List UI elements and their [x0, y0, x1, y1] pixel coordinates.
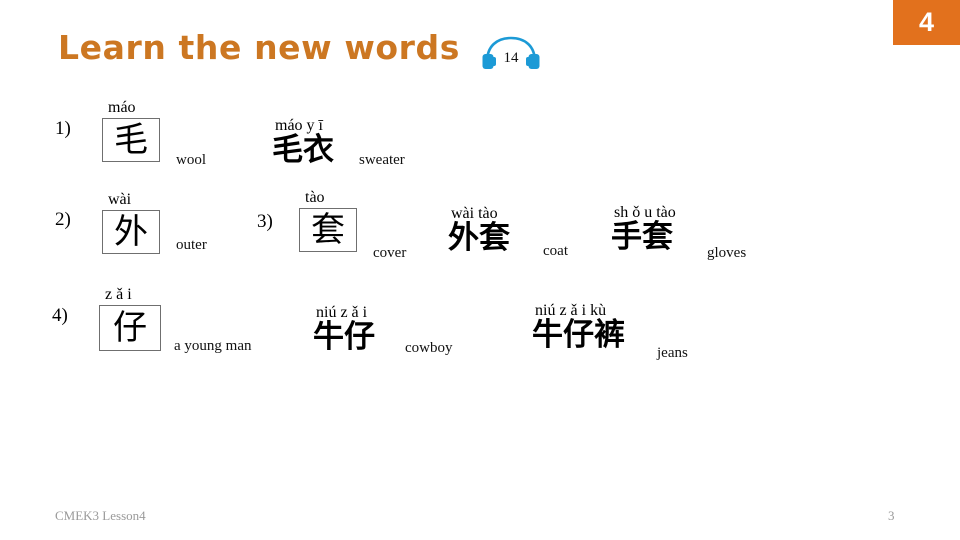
lesson-number-badge-label: 4: [919, 9, 934, 36]
gloss-cover: cover: [373, 245, 406, 262]
gloss-outer: outer: [176, 237, 207, 254]
audio-track-number: 14: [495, 50, 527, 67]
compound-glyphs: 牛仔: [313, 322, 375, 353]
char-box[interactable]: 毛: [102, 118, 160, 162]
char-box[interactable]: 外: [102, 210, 160, 254]
compound-glyphs: 手套: [611, 222, 676, 253]
char-pinyin: tào: [305, 190, 357, 206]
gloss-wool: wool: [176, 152, 206, 169]
char-pinyin: wài: [108, 192, 160, 208]
char-pinyin: máo: [108, 100, 160, 116]
lesson-number-badge: 4: [893, 0, 960, 45]
row-index-4: 4): [52, 305, 68, 327]
gloss-young-man: a young man: [174, 338, 251, 355]
char-entry-zai[interactable]: z ǎ i 仔: [99, 287, 161, 351]
gloss-sweater: sweater: [359, 152, 405, 169]
row-index-2: 2): [55, 209, 71, 231]
footer-page-number: 3: [888, 508, 895, 524]
char-glyph: 套: [311, 213, 345, 247]
page-title: Learn the new words: [58, 28, 460, 67]
gloss-coat: coat: [543, 243, 568, 260]
compound-shoutao[interactable]: sh ǒ u tào 手套: [611, 205, 676, 253]
slide-canvas: 4 Learn the new words 14 1) máo 毛 wool m…: [0, 0, 960, 540]
compound-niuzai[interactable]: niú z ǎ i 牛仔: [313, 305, 375, 353]
char-glyph: 外: [114, 215, 148, 249]
footer-lesson-label: CMEK3 Lesson4: [55, 508, 146, 524]
compound-waitao[interactable]: wài tào 外套: [448, 206, 510, 254]
compound-glyphs: 牛仔裤: [532, 320, 625, 351]
compound-niuzaiku[interactable]: niú z ǎ i kù 牛仔裤: [532, 303, 625, 351]
gloss-cowboy: cowboy: [405, 340, 453, 357]
row-index-3: 3): [257, 211, 273, 233]
gloss-jeans: jeans: [657, 345, 688, 362]
char-glyph: 毛: [114, 123, 148, 157]
char-box[interactable]: 仔: [99, 305, 161, 351]
row-index-1: 1): [55, 118, 71, 140]
char-glyph: 仔: [113, 311, 147, 345]
char-pinyin: z ǎ i: [105, 287, 161, 303]
gloss-gloves: gloves: [707, 245, 746, 262]
char-entry-wai[interactable]: wài 外: [102, 192, 160, 254]
compound-glyphs: 毛衣: [272, 135, 334, 166]
compound-glyphs: 外套: [448, 223, 510, 254]
char-entry-mao[interactable]: máo 毛: [102, 100, 160, 162]
char-entry-tao[interactable]: tào 套: [299, 190, 357, 252]
compound-maoyi[interactable]: máo y ī 毛衣: [272, 118, 334, 166]
char-box[interactable]: 套: [299, 208, 357, 252]
